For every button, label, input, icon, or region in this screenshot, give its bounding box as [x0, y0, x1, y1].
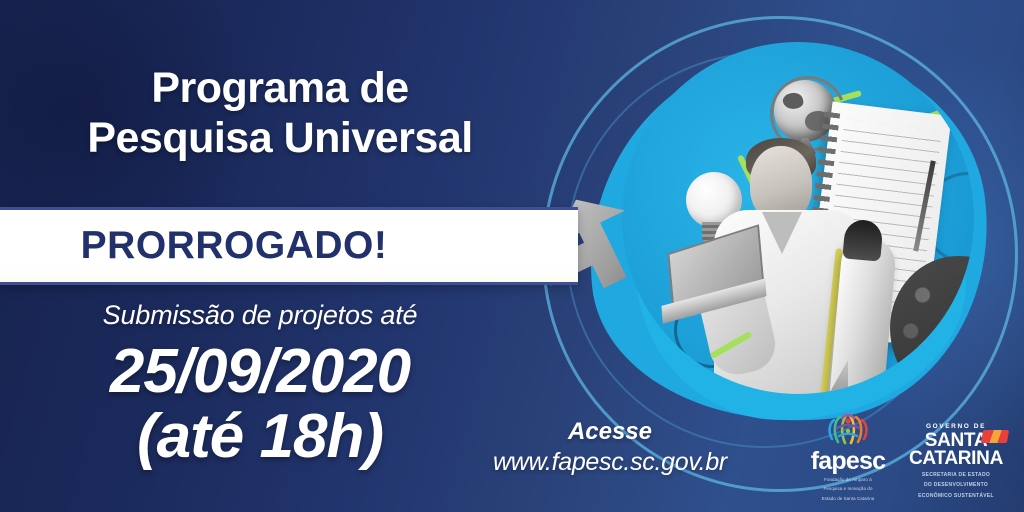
page-title: Programa de Pesquisa Universal [0, 64, 560, 164]
deadline-block: Submissão de projetos até 25/09/2020 (at… [0, 300, 520, 469]
status-badge: PRORROGADO! [0, 207, 578, 285]
government-name-row: SANTA CATARINA [898, 432, 1014, 469]
title-line-2: Pesquisa Universal [0, 114, 560, 164]
santa-catarina-flag-icon [981, 430, 1009, 443]
status-badge-text: PRORROGADO! [81, 224, 498, 268]
fapesc-tagline-1: Fundação de Amparo à [802, 477, 894, 483]
title-line-1: Programa de [0, 64, 560, 114]
government-tagline-2: DO DESENVOLVIMENTO [898, 482, 1014, 490]
deadline-label: Submissão de projetos até [0, 300, 520, 331]
access-url[interactable]: www.fapesc.sc.gov.br [460, 448, 760, 477]
brain-network-icon [820, 412, 876, 446]
deadline-time: (até 18h) [0, 404, 520, 469]
access-block: Acesse www.fapesc.sc.gov.br [460, 418, 760, 477]
fapesc-promo-banner: Programa de Pesquisa Universal PRORROGAD… [0, 0, 1024, 512]
fapesc-wordmark: fapesc [802, 449, 894, 474]
fapesc-tagline-2: Pesquisa e Inovação do [802, 486, 894, 492]
photo-disc [622, 42, 974, 394]
government-tagline-3: ECONÔMICO SUSTENTÁVEL [898, 493, 1014, 501]
fapesc-tagline-3: Estado de Santa Catarina [802, 496, 894, 502]
deadline-date: 25/09/2020 [0, 339, 520, 404]
access-label: Acesse [460, 418, 760, 446]
fapesc-logo: fapesc Fundação de Amparo à Pesquisa e I… [802, 412, 894, 502]
government-tagline-1: SECRETARIA DE ESTADO [898, 472, 1014, 480]
government-name-line-2: CATARINA [898, 450, 1014, 469]
government-logo: GOVERNO DE SANTA CATARINA SECRETARIA DE … [898, 424, 1014, 500]
